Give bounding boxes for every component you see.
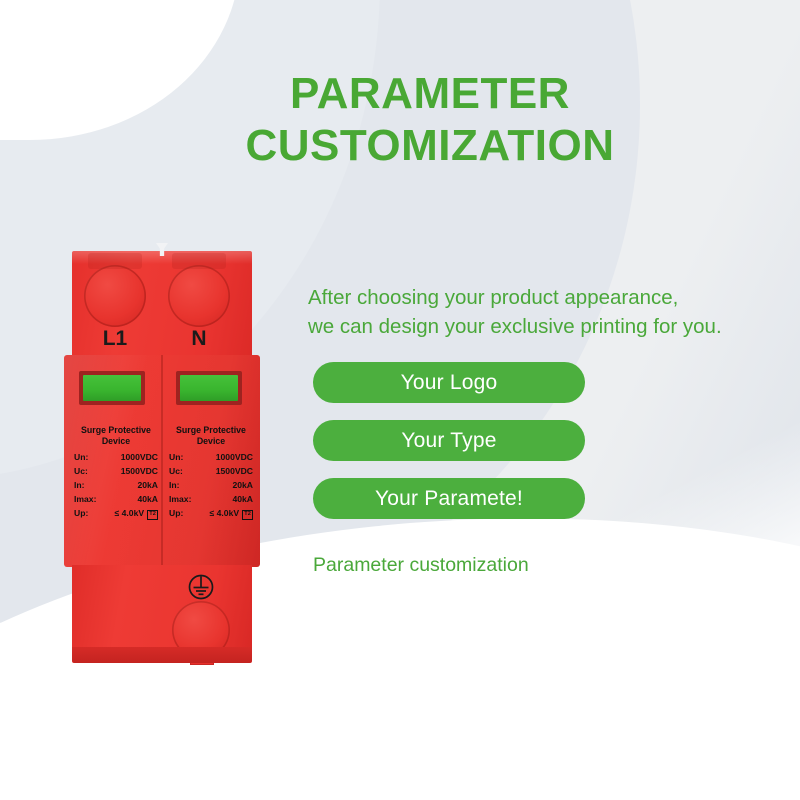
spec-value: ≤ 4.0kVT2 <box>115 509 158 520</box>
earth-ground-icon <box>185 571 217 603</box>
status-indicator-green-l1 <box>83 375 141 401</box>
spec-title-line2-pole-2: Device <box>165 436 257 447</box>
spd-product-image: L1 N Surge Protective Device Un: 1000VDC… <box>64 243 260 671</box>
spec-row: Uc: 1500VDC <box>165 467 257 476</box>
spec-row: Imax: 40kA <box>165 495 257 504</box>
spec-key: In: <box>74 481 85 490</box>
section-caption: Parameter customization <box>313 554 529 577</box>
spec-label-pole-2: Surge Protective Device Un: 1000VDC Uc: … <box>165 425 257 525</box>
product-body-housing: Surge Protective Device Un: 1000VDC Uc: … <box>64 355 260 567</box>
spec-value: 20kA <box>137 481 158 490</box>
spec-key: Un: <box>169 453 183 462</box>
spec-key: Up: <box>169 509 183 518</box>
page-title-line2: CUSTOMIZATION <box>170 120 690 172</box>
status-indicator-green-n <box>180 375 238 401</box>
spec-title-pole-1: Surge Protective Device <box>70 425 162 448</box>
status-indicator-window-n <box>176 371 242 405</box>
your-parameter-button[interactable]: Your Paramete! <box>313 478 585 519</box>
spec-key: Imax: <box>74 495 96 504</box>
customization-options: Your Logo Your Type Your Paramete! <box>313 362 585 536</box>
spd-class-badge: T2 <box>242 510 253 520</box>
terminal-slot-l1 <box>88 253 142 269</box>
spec-key: In: <box>169 481 180 490</box>
spec-key: Un: <box>74 453 88 462</box>
spec-key: Imax: <box>169 495 191 504</box>
spec-value: 40kA <box>137 495 158 504</box>
product-foot-ledge <box>72 647 252 663</box>
spd-class-badge: T2 <box>147 510 158 520</box>
terminal-slot-n <box>172 253 226 269</box>
background-bottom-white <box>0 680 800 800</box>
intro-text: After choosing your product appearance, … <box>308 283 800 341</box>
spec-title-pole-2: Surge Protective Device <box>165 425 257 448</box>
page-title-line1: PARAMETER <box>290 69 570 118</box>
status-indicator-window-l1 <box>79 371 145 405</box>
spec-value: ≤ 4.0kVT2 <box>210 509 253 520</box>
spec-title-line2-pole-1: Device <box>70 436 162 447</box>
spec-key: Uc: <box>74 467 88 476</box>
your-type-button[interactable]: Your Type <box>313 420 585 461</box>
spec-value: 40kA <box>232 495 253 504</box>
promo-banner: PARAMETER CUSTOMIZATION After choosing y… <box>0 0 800 800</box>
page-title: PARAMETER CUSTOMIZATION <box>170 68 690 172</box>
spec-row: In: 20kA <box>165 481 257 490</box>
intro-line1: After choosing your product appearance, <box>308 283 800 312</box>
spec-value: 1000VDC <box>121 453 158 462</box>
spec-value: 1000VDC <box>216 453 253 462</box>
terminal-label-l1: L1 <box>84 327 146 351</box>
spec-row: Imax: 40kA <box>70 495 162 504</box>
spec-row: Un: 1000VDC <box>165 453 257 462</box>
terminal-label-n: N <box>168 327 230 351</box>
spec-title-line1-pole-1: Surge Protective <box>70 425 162 436</box>
spec-label-pole-1: Surge Protective Device Un: 1000VDC Uc: … <box>70 425 162 525</box>
your-logo-button[interactable]: Your Logo <box>313 362 585 403</box>
terminal-screw-l1 <box>84 265 146 327</box>
spec-value: 1500VDC <box>216 467 253 476</box>
spec-key: Uc: <box>169 467 183 476</box>
spec-value: 20kA <box>232 481 253 490</box>
spec-value-text: ≤ 4.0kV <box>115 508 145 518</box>
spec-value: 1500VDC <box>121 467 158 476</box>
spec-row: Up: ≤ 4.0kVT2 <box>165 509 257 520</box>
spec-row: In: 20kA <box>70 481 162 490</box>
spec-key: Up: <box>74 509 88 518</box>
spec-row: Uc: 1500VDC <box>70 467 162 476</box>
spec-row: Un: 1000VDC <box>70 453 162 462</box>
spec-title-line1-pole-2: Surge Protective <box>165 425 257 436</box>
spec-value-text: ≤ 4.0kV <box>210 508 240 518</box>
terminal-screw-n <box>168 265 230 327</box>
spec-row: Up: ≤ 4.0kVT2 <box>70 509 162 520</box>
intro-line2: we can design your exclusive printing fo… <box>308 312 800 341</box>
